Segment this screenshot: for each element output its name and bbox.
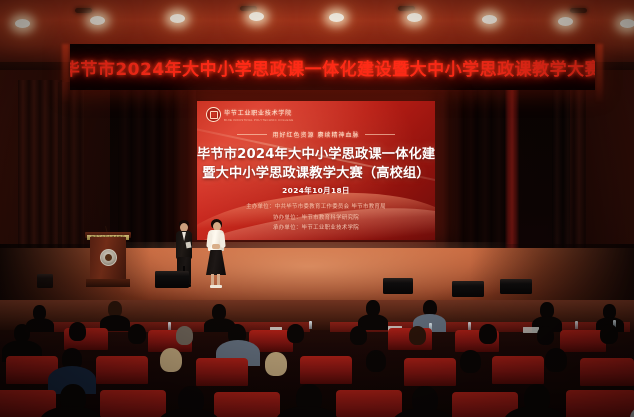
water-bottle — [168, 322, 171, 330]
stage-monitor-speaker — [452, 281, 484, 297]
audience-head — [479, 324, 497, 344]
audience-seat — [300, 356, 352, 384]
right-wall-light-strip — [596, 44, 603, 102]
slide-logo: 毕节工业职业技术学院 BIJIE INDUSTRIAL POLYTECHNIC … — [206, 107, 293, 122]
audience-head — [128, 324, 146, 344]
led-banner-text: 毕节市2024年大中小学思政课一体化建设暨大中小学思政课教学大赛 — [70, 55, 595, 80]
audience-seat — [580, 358, 634, 386]
ceiling-spotlight — [329, 13, 344, 22]
audience-head — [287, 324, 304, 343]
ceiling-light-housing — [570, 8, 587, 13]
audience-head — [160, 348, 182, 372]
audience-head — [366, 350, 386, 372]
water-bottle — [309, 321, 312, 329]
ceiling-spotlight — [407, 13, 422, 22]
podium: 毕节工业职业技术学院 — [88, 232, 128, 288]
female-host-skirt — [206, 250, 226, 275]
slide-logo-en: BIJIE INDUSTRIAL POLYTECHNIC COLLEGE — [224, 118, 293, 122]
audience-seat — [336, 390, 402, 417]
audience-seat — [96, 356, 148, 384]
kicker-rule-right — [365, 134, 395, 135]
water-bottle — [575, 321, 578, 329]
female-host-shoes — [210, 285, 222, 288]
audience-seat — [404, 358, 456, 386]
audience-area — [0, 300, 634, 417]
audience-seat — [196, 358, 248, 386]
projection-screen: 毕节工业职业技术学院 BIJIE INDUSTRIAL POLYTECHNIC … — [197, 101, 435, 240]
audience-head — [409, 326, 426, 345]
water-bottle — [468, 322, 471, 330]
stage-monitor-speaker — [383, 278, 413, 294]
national-emblem-icon — [100, 249, 117, 266]
audience-head — [460, 350, 481, 373]
podium-base — [86, 279, 130, 287]
audience-shoulders — [26, 318, 54, 332]
ceiling-spotlight — [620, 19, 634, 28]
audience-seat — [566, 390, 634, 417]
slide-kicker: 用好红色资源 赓续精神血脉 — [197, 130, 435, 139]
ceiling-spotlight — [558, 17, 573, 26]
audience-shoulders — [276, 406, 338, 417]
kicker-rule-left — [237, 134, 267, 135]
ceiling-light-housing — [398, 6, 415, 11]
ceiling-spotlight — [249, 12, 264, 21]
audience-seat — [100, 390, 166, 417]
audience-head — [537, 326, 554, 345]
audience-head — [265, 352, 287, 376]
audience-shoulders — [158, 408, 220, 417]
ceiling-spotlight — [482, 15, 497, 24]
ceiling-light-housing — [240, 6, 257, 11]
audience-head — [69, 322, 86, 341]
ceiling-spotlight — [15, 19, 30, 28]
male-host-cue-card — [186, 242, 192, 249]
ceiling-spotlight — [170, 14, 185, 23]
female-host — [204, 219, 228, 289]
audience-seat — [214, 392, 280, 417]
slide-title-line2: 暨大中小学思政课教学大赛（高校组） — [197, 164, 435, 183]
college-seal-icon — [206, 107, 221, 122]
slide-kicker-text: 用好红色资源 赓续精神血脉 — [273, 130, 360, 139]
slide-logo-words: 毕节工业职业技术学院 BIJIE INDUSTRIAL POLYTECHNIC … — [224, 108, 293, 122]
audience-seat — [492, 356, 544, 384]
audience-head — [545, 348, 567, 372]
stage-monitor-speaker — [500, 279, 532, 294]
led-banner: 毕节市2024年大中小学思政课一体化建设暨大中小学思政课教学大赛 — [70, 44, 595, 90]
slide-title-line1: 毕节市2024年大中小学思政课一体化建设 — [197, 147, 435, 162]
ceiling-spotlight — [90, 16, 105, 25]
auditorium-scene: 毕节市2024年大中小学思政课一体化建设暨大中小学思政课教学大赛 毕节工业职业技… — [0, 0, 634, 417]
stage-monitor-speaker — [155, 271, 189, 288]
female-host-hands — [212, 244, 220, 249]
female-host-right-arm — [219, 233, 226, 248]
audience-head — [176, 326, 193, 345]
ceiling-light-housing — [75, 8, 92, 13]
slide-logo-cn: 毕节工业职业技术学院 — [224, 108, 293, 117]
audience-head — [350, 326, 367, 345]
audience-head — [600, 324, 618, 344]
stage-monitor-speaker — [37, 274, 53, 288]
slide-title: 毕节市2024年大中小学思政课一体化建设 暨大中小学思政课教学大赛（高校组） — [197, 145, 435, 183]
